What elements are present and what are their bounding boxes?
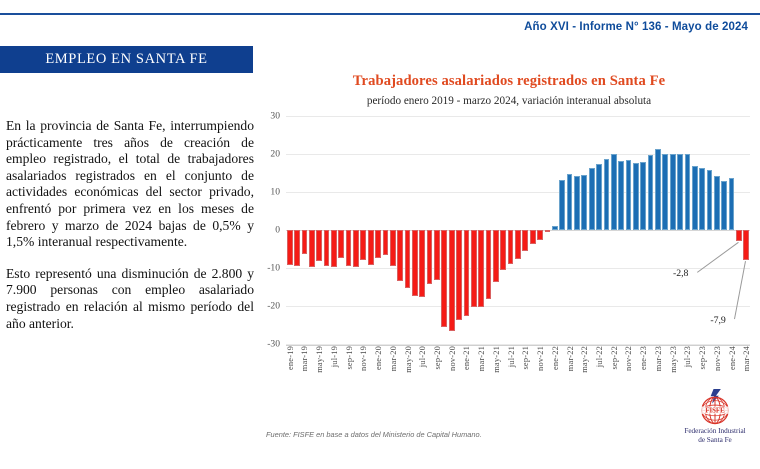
bar-abr-23 xyxy=(662,154,668,230)
x-axis-tick: nov-20 xyxy=(448,346,457,371)
x-axis-tick: ene-23 xyxy=(639,346,648,370)
logo-line-1: Federación Industrial xyxy=(676,427,754,435)
bar-mar-20 xyxy=(390,230,396,266)
bar-series xyxy=(286,116,750,344)
bar-jun-21 xyxy=(500,230,506,270)
report-page: Año XVI - Informe N° 136 - Mayo de 2024 … xyxy=(0,0,760,469)
bar-abr-21 xyxy=(486,230,492,299)
x-axis-tick: jul-19 xyxy=(330,346,339,367)
x-axis-tick: mar-24 xyxy=(742,346,751,371)
bar-may-22 xyxy=(581,175,587,230)
plot-area: 3020100-10-20-30 -2,8-7,9 xyxy=(286,116,750,344)
data-label-feb-24: -2,8 xyxy=(673,268,689,279)
x-axis-tick: may-19 xyxy=(315,346,324,373)
chart-subtitle: período enero 2019 - marzo 2024, variaci… xyxy=(258,95,760,107)
section-title-text: EMPLEO EN SANTA FE xyxy=(0,46,253,73)
bar-nov-19 xyxy=(360,230,366,260)
bar-mar-19 xyxy=(302,230,308,254)
x-axis-tick: nov-22 xyxy=(624,346,633,371)
chart-source-note: Fuente: FISFE en base a datos del Minist… xyxy=(266,430,482,439)
bar-ene-22 xyxy=(552,226,558,230)
x-axis-tick: jul-22 xyxy=(595,346,604,367)
bar-oct-22 xyxy=(618,161,624,230)
y-axis-tick: -10 xyxy=(267,263,280,274)
bar-sep-20 xyxy=(434,230,440,280)
bar-abr-22 xyxy=(574,176,580,230)
bar-abr-19 xyxy=(309,230,315,267)
y-axis-tick: 0 xyxy=(275,225,280,236)
x-axis-tick: may-23 xyxy=(669,346,678,373)
bar-may-23 xyxy=(670,154,676,230)
x-axis-tick: nov-21 xyxy=(536,346,545,371)
x-axis-tick: mar-20 xyxy=(389,346,398,371)
x-axis-tick: sep-21 xyxy=(521,346,530,370)
bar-ene-23 xyxy=(640,162,646,230)
x-axis-tick: may-20 xyxy=(404,346,413,373)
x-axis-tick: nov-19 xyxy=(359,346,368,371)
x-axis-tick: sep-20 xyxy=(433,346,442,370)
bar-dic-20 xyxy=(456,230,462,320)
bar-ago-21 xyxy=(515,230,521,259)
bar-feb-24 xyxy=(736,230,742,241)
x-axis-tick: sep-23 xyxy=(698,346,707,370)
bar-feb-20 xyxy=(383,230,389,255)
bar-jul-20 xyxy=(419,230,425,297)
x-axis-tick: sep-19 xyxy=(345,346,354,370)
x-axis-tick: ene-24 xyxy=(728,346,737,370)
article-body: En la provincia de Santa Fe, interrumpie… xyxy=(6,118,254,347)
x-axis-tick: ene-21 xyxy=(462,346,471,370)
bar-jun-23 xyxy=(677,154,683,230)
bar-jul-22 xyxy=(596,164,602,230)
bar-jun-22 xyxy=(589,168,595,230)
bar-nov-21 xyxy=(537,230,543,240)
fisfe-logo: FISFE Federación Industrial de Santa Fe xyxy=(676,388,754,454)
article-paragraph-1: En la provincia de Santa Fe, interrumpie… xyxy=(6,118,254,251)
bar-nov-22 xyxy=(626,160,632,230)
bar-mar-22 xyxy=(567,174,573,230)
x-axis-tick: jul-20 xyxy=(418,346,427,367)
bar-feb-23 xyxy=(648,155,654,230)
bar-oct-23 xyxy=(707,170,713,230)
bar-abr-20 xyxy=(397,230,403,281)
bar-jul-19 xyxy=(331,230,337,267)
bar-dic-21 xyxy=(545,230,551,232)
bar-ene-19 xyxy=(287,230,293,265)
logo-mark-text: FISFE xyxy=(705,408,725,415)
x-axis-tick: ene-22 xyxy=(551,346,560,370)
x-axis-tick: ene-19 xyxy=(286,346,295,370)
bar-oct-19 xyxy=(353,230,359,267)
x-axis-tick: nov-23 xyxy=(713,346,722,371)
bar-dic-19 xyxy=(368,230,374,265)
data-label-mar-24: -7,9 xyxy=(710,315,726,326)
y-axis-tick: 20 xyxy=(270,149,280,160)
x-axis-tick: may-22 xyxy=(580,346,589,373)
x-axis-tick: may-21 xyxy=(492,346,501,373)
section-title-banner: EMPLEO EN SANTA FE xyxy=(0,46,253,73)
bar-jul-23 xyxy=(685,154,691,230)
bar-may-20 xyxy=(405,230,411,288)
bar-ene-21 xyxy=(464,230,470,316)
bar-ago-19 xyxy=(338,230,344,258)
x-axis-tick: jul-23 xyxy=(683,346,692,367)
bar-may-19 xyxy=(316,230,322,261)
bar-nov-23 xyxy=(714,176,720,230)
bar-mar-24 xyxy=(743,230,749,260)
bar-jun-20 xyxy=(412,230,418,296)
bar-ene-20 xyxy=(375,230,381,258)
x-axis-tick: sep-22 xyxy=(610,346,619,370)
bar-feb-22 xyxy=(559,180,565,230)
chart-title: Trabajadores asalariados registrados en … xyxy=(258,73,760,90)
bar-jul-21 xyxy=(508,230,514,264)
header-divider xyxy=(0,13,760,15)
bar-sep-19 xyxy=(346,230,352,266)
bar-mar-21 xyxy=(478,230,484,307)
y-axis-tick: -30 xyxy=(267,339,280,350)
y-axis-tick: -20 xyxy=(267,301,280,312)
bar-jun-19 xyxy=(324,230,330,266)
bar-feb-21 xyxy=(471,230,477,307)
y-axis-tick: 30 xyxy=(270,111,280,122)
y-axis-tick: 10 xyxy=(270,187,280,198)
bar-mar-23 xyxy=(655,149,661,230)
bar-sep-21 xyxy=(522,230,528,251)
bar-ago-23 xyxy=(692,166,698,230)
globe-icon: FISFE xyxy=(690,388,740,426)
bar-ago-22 xyxy=(604,159,610,230)
x-axis-tick: jul-21 xyxy=(507,346,516,367)
bar-may-21 xyxy=(493,230,499,282)
bar-feb-19 xyxy=(294,230,300,266)
logo-line-2: de Santa Fe xyxy=(676,436,754,444)
bar-ago-20 xyxy=(427,230,433,284)
x-axis-tick: ene-20 xyxy=(374,346,383,370)
report-issue-line: Año XVI - Informe N° 136 - Mayo de 2024 xyxy=(524,21,748,33)
article-paragraph-2: Esto representó una disminución de 2.800… xyxy=(6,266,254,332)
x-axis-tick: mar-19 xyxy=(300,346,309,371)
bar-oct-21 xyxy=(530,230,536,244)
bar-ene-24 xyxy=(729,178,735,230)
bar-oct-20 xyxy=(441,230,447,327)
x-axis-tick: mar-22 xyxy=(566,346,575,371)
x-axis-tick: mar-23 xyxy=(654,346,663,371)
bar-sep-23 xyxy=(699,168,705,230)
bar-nov-20 xyxy=(449,230,455,331)
bar-sep-22 xyxy=(611,154,617,230)
bar-dic-22 xyxy=(633,163,639,230)
bar-dic-23 xyxy=(721,181,727,230)
x-axis-tick: mar-21 xyxy=(477,346,486,371)
